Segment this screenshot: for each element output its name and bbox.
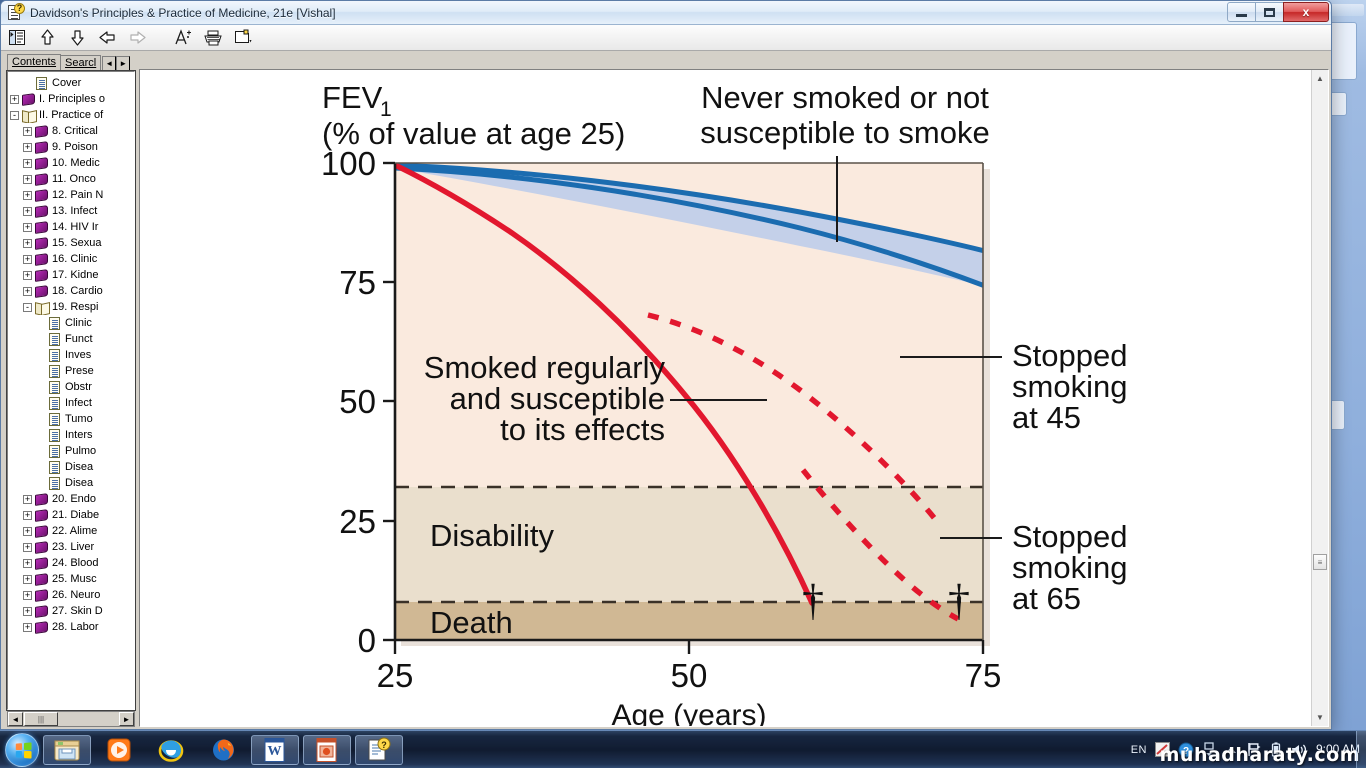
x-axis-label: Age (years) (611, 699, 766, 727)
tree-item[interactable]: +11. Onco (10, 171, 134, 187)
tab-contents-label: Contents (12, 56, 56, 68)
word-document-icon: W (263, 737, 287, 763)
nav-scroll-left-icon[interactable]: ◄ (8, 712, 23, 726)
book-icon (35, 285, 49, 298)
expand-icon[interactable]: + (23, 543, 32, 552)
y-tick-0: 0 (358, 622, 376, 659)
tree-item[interactable]: Disea (10, 459, 134, 475)
tree-item[interactable]: +23. Liver (10, 539, 134, 555)
expand-icon[interactable]: + (23, 575, 32, 584)
book-icon (35, 573, 49, 586)
nav-horizontal-scrollbar[interactable]: ◄ ||| ► (7, 711, 135, 727)
tree-item-label: 23. Liver (52, 541, 94, 553)
page-icon (48, 333, 62, 346)
tree-item[interactable]: +17. Kidne (10, 267, 134, 283)
page-icon (48, 349, 62, 362)
expand-icon[interactable]: + (23, 591, 32, 600)
tree-item[interactable]: -19. Respi (10, 299, 134, 315)
never-smoked-annotation-line1: Never smoked or not (701, 80, 989, 115)
tree-item-label: 21. Diabe (52, 509, 99, 521)
start-button[interactable] (5, 733, 39, 767)
maximize-icon (1264, 8, 1275, 17)
tree-item-label: 16. Clinic (52, 253, 97, 265)
x-tick-25: 25 (377, 657, 414, 694)
x-tick-50: 50 (671, 657, 708, 694)
page-icon (48, 317, 62, 330)
tree-spacer (36, 463, 45, 472)
close-button[interactable]: x (1283, 2, 1329, 22)
y-axis-label-line2: (% of value at age 25) (322, 116, 625, 151)
expand-icon[interactable]: + (23, 559, 32, 568)
content-vertical-scrollbar[interactable]: ▲ ≡ ▼ (1311, 70, 1328, 726)
windows-logo-icon (16, 742, 32, 758)
page-icon (48, 397, 62, 410)
tree-item[interactable]: +20. Endo (10, 491, 134, 507)
tree-item-label: Disea (65, 477, 93, 489)
book-icon (35, 493, 49, 506)
contents-tree[interactable]: Cover+I. Principles o-II. Practice of+8.… (7, 71, 135, 710)
folder-icon (54, 738, 80, 762)
tree-item-label: Funct (65, 333, 93, 345)
taskbar[interactable]: W ? EN ? (0, 730, 1366, 768)
expand-icon[interactable]: + (23, 191, 32, 200)
page-icon (48, 413, 62, 426)
y-ticks (383, 163, 395, 640)
tree-item-label: 24. Blood (52, 557, 98, 569)
book-icon (35, 189, 49, 202)
scroll-track[interactable] (1312, 87, 1329, 709)
tree-item-label: Inves (65, 349, 91, 361)
stopped-65-annotation-line1: Stopped (1012, 519, 1128, 554)
tree-item[interactable]: +25. Musc (10, 571, 134, 587)
book-icon (35, 509, 49, 522)
page-icon (48, 365, 62, 378)
book-icon (35, 525, 49, 538)
tree-item-label: Pulmo (65, 445, 96, 457)
x-tick-75: 75 (965, 657, 1002, 694)
scroll-down-icon[interactable]: ▼ (1312, 709, 1329, 726)
nav-tabs[interactable]: Contents Searcl ◄ ► (7, 53, 135, 71)
show-contents-icon[interactable] (7, 28, 27, 48)
tree-item[interactable]: +15. Sexua (10, 235, 134, 251)
tree-item-label: 12. Pain N (52, 189, 103, 201)
tree-item[interactable]: Cover (10, 75, 134, 91)
tree-item-label: Clinic (65, 317, 92, 329)
expand-icon[interactable]: + (23, 127, 32, 136)
tree-item-label: 11. Onco (52, 173, 96, 185)
taskbar-item-ie[interactable] (147, 735, 195, 765)
tree-item[interactable]: +13. Infect (10, 203, 134, 219)
tree-item-label: 15. Sexua (52, 237, 102, 249)
help-book-icon: ? (7, 4, 24, 21)
tree-spacer (23, 79, 32, 88)
tree-item[interactable]: +12. Pain N (10, 187, 134, 203)
tree-item-label: 10. Medic (52, 157, 100, 169)
expand-icon[interactable]: + (23, 255, 32, 264)
expand-icon[interactable]: + (23, 175, 32, 184)
tree-item[interactable]: Clinic (10, 315, 134, 331)
book-icon (35, 541, 49, 554)
book-icon (35, 253, 49, 266)
tree-item[interactable]: Inters (10, 427, 134, 443)
y-tick-50: 50 (339, 383, 376, 420)
tree-item[interactable]: +18. Cardio (10, 283, 134, 299)
expand-icon[interactable]: + (23, 511, 32, 520)
tree-item[interactable]: Funct (10, 331, 134, 347)
tree-item[interactable]: +9. Poison (10, 139, 134, 155)
stopped-45-annotation-line3: at 45 (1012, 400, 1081, 435)
open-book-icon (22, 109, 36, 122)
book-icon (35, 125, 49, 138)
nav-scroll-right-icon[interactable]: ► (119, 712, 134, 726)
y-tick-75: 75 (339, 264, 376, 301)
tree-item-label: 26. Neuro (52, 589, 100, 601)
book-icon (35, 589, 49, 602)
window-body: Contents Searcl ◄ ► Cover+I. Principles … (1, 51, 1331, 729)
expand-icon[interactable]: + (23, 271, 32, 280)
taskbar-item-word[interactable]: W (251, 735, 299, 765)
smoked-annotation-line2: and susceptible (450, 381, 665, 416)
book-icon (35, 205, 49, 218)
tree-spacer (36, 383, 45, 392)
firefox-icon (210, 736, 237, 763)
tree-item-label: 25. Musc (52, 573, 97, 585)
print-icon[interactable] (203, 28, 223, 48)
tab-next-icon[interactable]: ► (116, 56, 130, 71)
nav-scroll-thumb[interactable]: ||| (24, 712, 58, 726)
book-icon (35, 621, 49, 634)
tree-item[interactable]: +16. Clinic (10, 251, 134, 267)
y-tick-25: 25 (339, 503, 376, 540)
tab-search[interactable]: Searcl (60, 55, 101, 71)
tree-item-label: 9. Poison (52, 141, 98, 153)
taskbar-item-mediaplayer[interactable] (95, 735, 143, 765)
smoked-annotation-line1: Smoked regularly (424, 350, 666, 385)
title-bar[interactable]: ? Davidson's Principles & Practice of Me… (1, 1, 1331, 25)
svg-text:W: W (268, 744, 282, 759)
expand-icon[interactable]: + (23, 495, 32, 504)
book-icon (35, 141, 49, 154)
page-icon (35, 77, 49, 90)
scroll-thumb[interactable]: ≡ (1313, 554, 1327, 570)
tree-item[interactable]: Disea (10, 475, 134, 491)
expand-icon[interactable]: + (23, 143, 32, 152)
help-viewer-window[interactable]: ? Davidson's Principles & Practice of Me… (0, 0, 1332, 730)
tree-spacer (36, 447, 45, 456)
window-title: Davidson's Principles & Practice of Medi… (30, 6, 336, 20)
window-controls[interactable]: x (1228, 2, 1329, 22)
death-marker-1-icon: † (802, 576, 824, 625)
page-icon (48, 429, 62, 442)
tree-item[interactable]: Prese (10, 363, 134, 379)
stopped-65-annotation-line2: smoking (1012, 550, 1127, 585)
tree-item-label: 13. Infect (52, 205, 97, 217)
show-desktop-button[interactable] (1356, 731, 1366, 768)
expand-icon[interactable]: + (23, 287, 32, 296)
tree-item-label: 19. Respi (52, 301, 98, 313)
tree-item[interactable]: +26. Neuro (10, 587, 134, 603)
watermark: muhadharaty.com (1160, 744, 1360, 766)
tree-item-label: Infect (65, 397, 92, 409)
tree-item-label: 8. Critical (52, 125, 98, 137)
tree-item[interactable]: -II. Practice of (10, 107, 134, 123)
death-marker-2-icon: † (948, 576, 970, 625)
book-icon (35, 605, 49, 618)
page-icon (48, 477, 62, 490)
taskbar-item-explorer[interactable] (43, 735, 91, 765)
book-icon (35, 221, 49, 234)
tree-item[interactable]: +22. Alime (10, 523, 134, 539)
expand-icon[interactable]: + (23, 527, 32, 536)
maximize-button[interactable] (1255, 2, 1284, 22)
taskbar-item-firefox[interactable] (199, 735, 247, 765)
book-icon (22, 93, 36, 106)
minimize-icon (1236, 14, 1247, 17)
tree-item-label: 22. Alime (52, 525, 97, 537)
tree-spacer (36, 479, 45, 488)
book-icon (35, 157, 49, 170)
stopped-65-annotation-line3: at 65 (1012, 581, 1081, 616)
death-band-label: Death (430, 605, 513, 640)
tree-item[interactable]: +21. Diabe (10, 507, 134, 523)
disability-band-label: Disability (430, 518, 555, 553)
down-arrow-icon[interactable] (67, 28, 87, 48)
tree-item-label: Prese (65, 365, 94, 377)
plot-shadow (983, 169, 990, 646)
tree-spacer (36, 351, 45, 360)
expand-icon[interactable]: + (23, 239, 32, 248)
collapse-icon[interactable]: - (23, 303, 32, 312)
tree-item[interactable]: +I. Principles o (10, 91, 134, 107)
chart-svg: 100 75 50 25 0 25 50 (140, 70, 1315, 727)
expand-icon[interactable]: + (10, 95, 19, 104)
tree-item[interactable]: +24. Blood (10, 555, 134, 571)
expand-icon[interactable]: + (23, 223, 32, 232)
tree-spacer (36, 399, 45, 408)
tree-spacer (36, 367, 45, 376)
tree-item[interactable]: Obstr (10, 379, 134, 395)
scroll-up-icon[interactable]: ▲ (1312, 70, 1329, 87)
expand-icon[interactable]: + (23, 623, 32, 632)
forward-arrow-icon[interactable] (127, 28, 147, 48)
smoked-annotation-line3: to its effects (500, 412, 665, 447)
tree-item-label: Cover (52, 77, 81, 89)
tree-spacer (36, 319, 45, 328)
tree-item-label: Tumo (65, 413, 93, 425)
navigation-pane[interactable]: Contents Searcl ◄ ► Cover+I. Principles … (1, 51, 137, 729)
powerpoint-icon (315, 737, 339, 763)
tree-item[interactable]: +28. Labor (10, 619, 134, 635)
taskbar-item-helpviewer[interactable]: ? (355, 735, 403, 765)
tree-item-label: 20. Endo (52, 493, 96, 505)
page-icon (48, 461, 62, 474)
font-size-icon[interactable] (173, 28, 193, 48)
svg-text:?: ? (381, 740, 387, 750)
y-axis-label-line1: FEV (322, 80, 383, 115)
tree-spacer (36, 335, 45, 344)
tree-item-label: Disea (65, 461, 93, 473)
taskbar-item-powerpoint[interactable] (303, 735, 351, 765)
page-icon (48, 445, 62, 458)
tree-item-label: 14. HIV Ir (52, 221, 98, 233)
tree-item[interactable]: Pulmo (10, 443, 134, 459)
toolbar[interactable] (1, 25, 1331, 51)
page-icon (48, 381, 62, 394)
tree-item[interactable]: +10. Medic (10, 155, 134, 171)
language-indicator[interactable]: EN (1131, 744, 1147, 756)
tree-spacer (36, 415, 45, 424)
tree-item-label: II. Practice of (39, 109, 103, 121)
tree-item[interactable]: +8. Critical (10, 123, 134, 139)
tree-item-label: I. Principles o (39, 93, 105, 105)
tree-spacer (36, 431, 45, 440)
figure-fev1-decline: 100 75 50 25 0 25 50 (140, 70, 1311, 726)
tree-item[interactable]: Infect (10, 395, 134, 411)
tree-item-label: Inters (65, 429, 93, 441)
tab-scroll-arrows[interactable]: ◄ ► (102, 56, 130, 71)
tree-item-label: 27. Skin D (52, 605, 103, 617)
tab-search-label: Searcl (65, 57, 96, 69)
internet-explorer-icon (157, 737, 185, 763)
tab-prev-icon[interactable]: ◄ (102, 56, 116, 71)
stopped-45-annotation-line1: Stopped (1012, 338, 1128, 373)
up-arrow-icon[interactable] (37, 28, 57, 48)
tree-item[interactable]: +14. HIV Ir (10, 219, 134, 235)
tree-item-label: 17. Kidne (52, 269, 98, 281)
book-icon (35, 173, 49, 186)
open-book-icon (35, 301, 49, 314)
collapse-icon[interactable]: - (10, 111, 19, 120)
options-icon[interactable] (233, 28, 253, 48)
tree-item-label: 18. Cardio (52, 285, 103, 297)
tree-item[interactable]: +27. Skin D (10, 603, 134, 619)
book-icon (35, 237, 49, 250)
book-icon (35, 557, 49, 570)
expand-icon[interactable]: + (23, 207, 32, 216)
tab-contents[interactable]: Contents (7, 54, 61, 71)
media-player-icon (106, 737, 132, 763)
back-arrow-icon[interactable] (97, 28, 117, 48)
tree-item[interactable]: Inves (10, 347, 134, 363)
expand-icon[interactable]: + (23, 159, 32, 168)
tree-item-label: Obstr (65, 381, 92, 393)
never-smoked-annotation-line2: susceptible to smoke (700, 115, 989, 150)
tree-item[interactable]: Tumo (10, 411, 134, 427)
help-viewer-icon: ? (367, 737, 391, 763)
book-icon (35, 269, 49, 282)
tree-item-label: 28. Labor (52, 621, 98, 633)
expand-icon[interactable]: + (23, 607, 32, 616)
stopped-45-annotation-line2: smoking (1012, 369, 1127, 404)
content-pane[interactable]: 100 75 50 25 0 25 50 (139, 69, 1329, 727)
minimize-button[interactable] (1227, 2, 1256, 22)
